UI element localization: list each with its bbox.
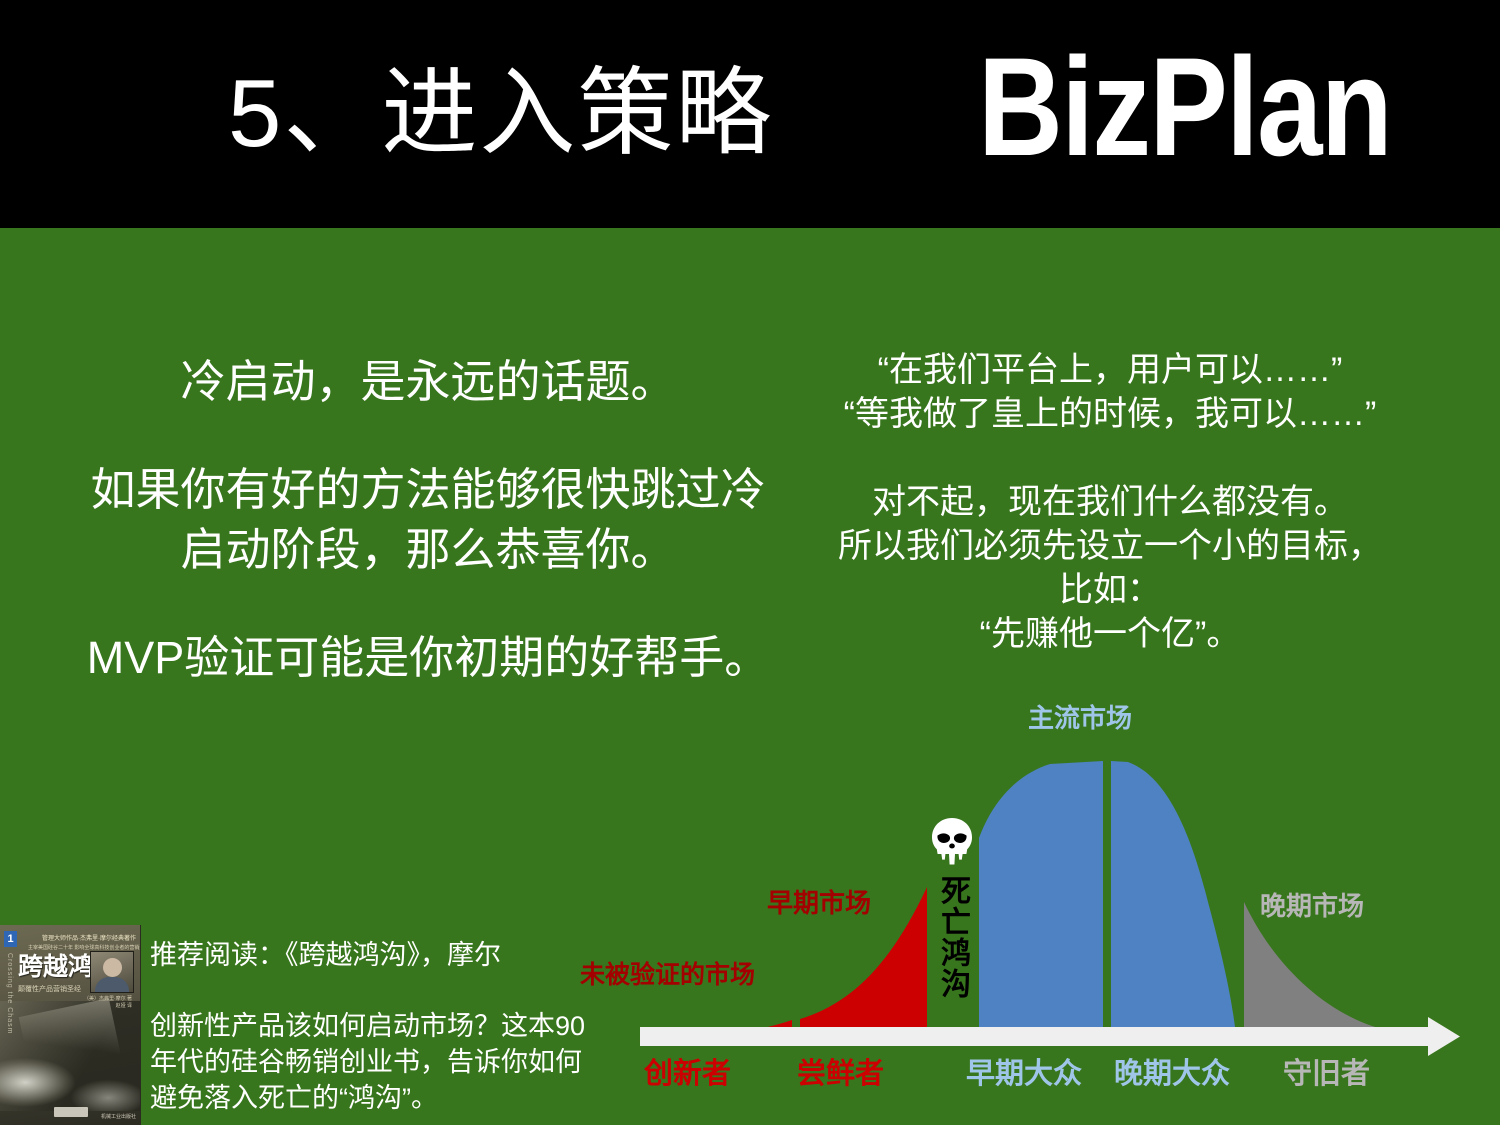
label-late-market: 晚期市场	[1260, 886, 1364, 923]
book-cover-subtitle: 颠覆性产品营销圣经	[18, 984, 81, 994]
category-label-early-majority: 早期大众	[966, 1050, 1082, 1092]
skull-icon	[928, 816, 976, 868]
chasm-annotation: 死亡鸿沟	[923, 816, 981, 1004]
slide-header: 5、进入策略 BizPlan	[0, 0, 1500, 228]
book-recommend-line: 推荐阅读：《跨越鸿沟》，摩尔	[150, 938, 600, 972]
curve-area-laggards	[1244, 902, 1458, 1042]
book-text-block: 推荐阅读：《跨越鸿沟》，摩尔 创新性产品该如何启动市场？这本90年代的硅谷畅销创…	[150, 938, 600, 1116]
chart-category-labels: 创新者 尝鲜者 早期大众 晚期大众 守旧者	[560, 1050, 1500, 1094]
category-label-late-majority: 晚期大众	[1114, 1050, 1230, 1092]
right-text-column: “在我们平台上，用户可以……” “等我做了皇上的时候，我可以……” 对不起，现在…	[790, 348, 1430, 656]
curve-area-late-majority	[1111, 761, 1236, 1042]
label-early-market: 早期市场	[767, 883, 871, 920]
left-paragraph-1: 冷启动，是永远的话题。	[78, 352, 778, 412]
category-label-laggards: 守旧者	[1283, 1050, 1370, 1092]
left-paragraph-3: MVP验证可能是你初期的好帮手。	[78, 628, 778, 688]
curve-area-early-majority	[979, 761, 1103, 1042]
bizplan-logo: BizPlan	[978, 32, 1391, 182]
book-cover-publisher-mark	[54, 1107, 88, 1117]
book-cover-artwork	[0, 1001, 141, 1111]
adoption-lifecycle-chart: 主流市场 晚期市场 早期市场 未被验证的市场 死亡鸿沟 创新者 尝鲜者 早期大众…	[560, 690, 1500, 1125]
book-cover-english-title: Crossing the Chasm	[6, 953, 13, 1034]
book-cover-badge: 1	[4, 931, 17, 947]
label-unvalidated-market: 未被验证的市场	[580, 955, 755, 991]
right-paragraph-2: 对不起，现在我们什么都没有。 所以我们必须先设立一个小的目标， 比如： “先赚他…	[790, 480, 1430, 656]
book-cover-top-text: 管理大师作品·杰弗里·摩尔经典著作	[42, 933, 136, 942]
book-recommendation: 1 Crossing the Chasm 管理大师作品·杰弗里·摩尔经典著作 主…	[0, 925, 600, 1125]
book-cover-publisher: 机械工业出版社	[101, 1113, 136, 1120]
label-mainstream-market: 主流市场	[1028, 698, 1132, 735]
left-text-column: 冷启动，是永远的话题。 如果你有好的方法能够很快跳过冷启动阶段，那么恭喜你。 M…	[78, 352, 778, 688]
slide: 5、进入策略 BizPlan 冷启动，是永远的话题。 如果你有好的方法能够很快跳…	[0, 0, 1500, 1125]
book-description: 创新性产品该如何启动市场？这本90年代的硅谷畅销创业书，告诉你如何避免落入死亡的…	[150, 1008, 600, 1116]
right-paragraph-1: “在我们平台上，用户可以……” “等我做了皇上的时候，我可以……”	[790, 348, 1430, 436]
book-cover-sub-text: 主宰美国硅谷二十年 影响全球高科技创业者的营销圣经	[28, 944, 141, 951]
left-paragraph-2: 如果你有好的方法能够很快跳过冷启动阶段，那么恭喜你。	[78, 460, 778, 580]
book-cover-image: 1 Crossing the Chasm 管理大师作品·杰弗里·摩尔经典著作 主…	[0, 925, 141, 1125]
page-title: 5、进入策略	[228, 62, 773, 166]
label-chasm: 死亡鸿沟	[935, 875, 969, 999]
category-label-innovators: 创新者	[644, 1050, 731, 1092]
book-cover-byline: （美）杰弗里·摩尔 著 赵娅 译	[84, 995, 132, 1009]
category-label-early-adopters: 尝鲜者	[797, 1050, 884, 1092]
book-cover-author-photo	[90, 951, 134, 993]
